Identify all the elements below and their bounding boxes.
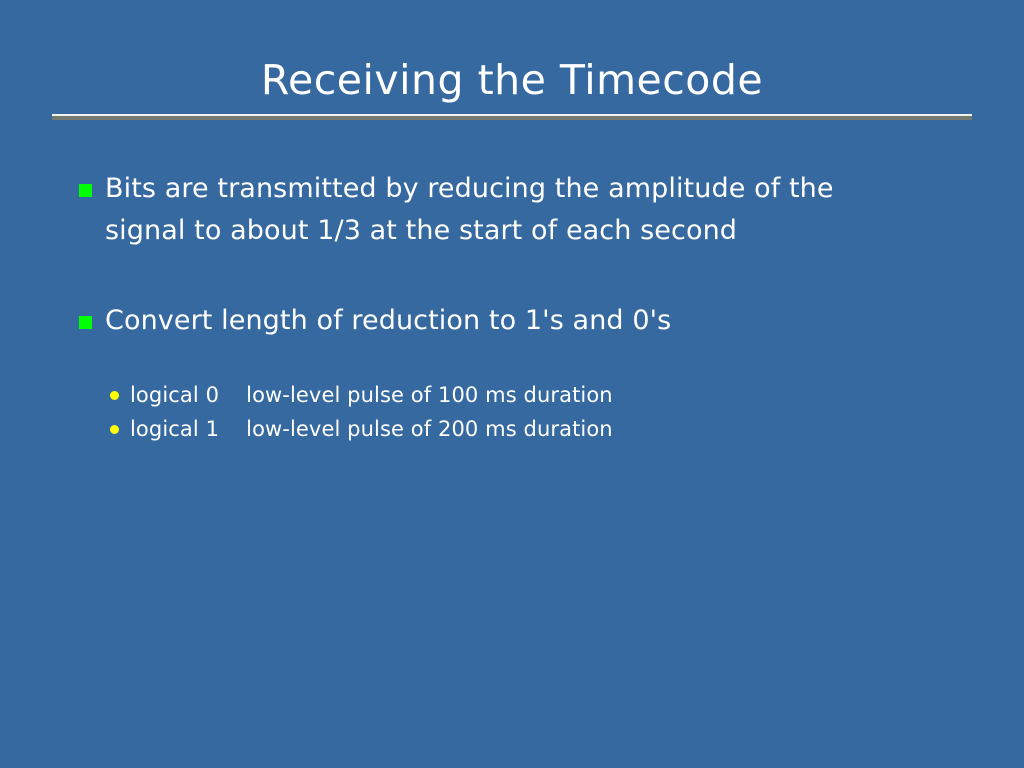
page-title: Receiving the Timecode <box>0 57 1024 103</box>
list-item-level2: logical 1 low-level pulse of 200 ms dura… <box>0 412 1024 446</box>
list-item-level1: Bits are transmitted by reducing the amp… <box>0 168 1024 252</box>
list-item-level1: Convert length of reduction to 1's and 0… <box>0 300 1024 342</box>
divider-shadow-line <box>52 116 972 120</box>
bullet-list: Bits are transmitted by reducing the amp… <box>0 168 1024 446</box>
square-bullet-icon <box>79 184 92 197</box>
title-divider <box>52 114 972 120</box>
square-bullet-icon <box>79 316 92 329</box>
list-item-level2: logical 0 low-level pulse of 100 ms dura… <box>0 378 1024 412</box>
round-bullet-icon <box>110 425 119 434</box>
round-bullet-icon <box>110 391 119 400</box>
list-item-label: logical 1 low-level pulse of 200 ms dura… <box>130 412 1024 446</box>
list-item-label: Bits are transmitted by reducing the amp… <box>105 168 905 252</box>
list-item-label: Convert length of reduction to 1's and 0… <box>105 300 905 342</box>
slide-canvas: Receiving the Timecode Bits are transmit… <box>0 0 1024 768</box>
list-item-label: logical 0 low-level pulse of 100 ms dura… <box>130 378 1024 412</box>
sub-bullet-list: logical 0 low-level pulse of 100 ms dura… <box>0 378 1024 446</box>
